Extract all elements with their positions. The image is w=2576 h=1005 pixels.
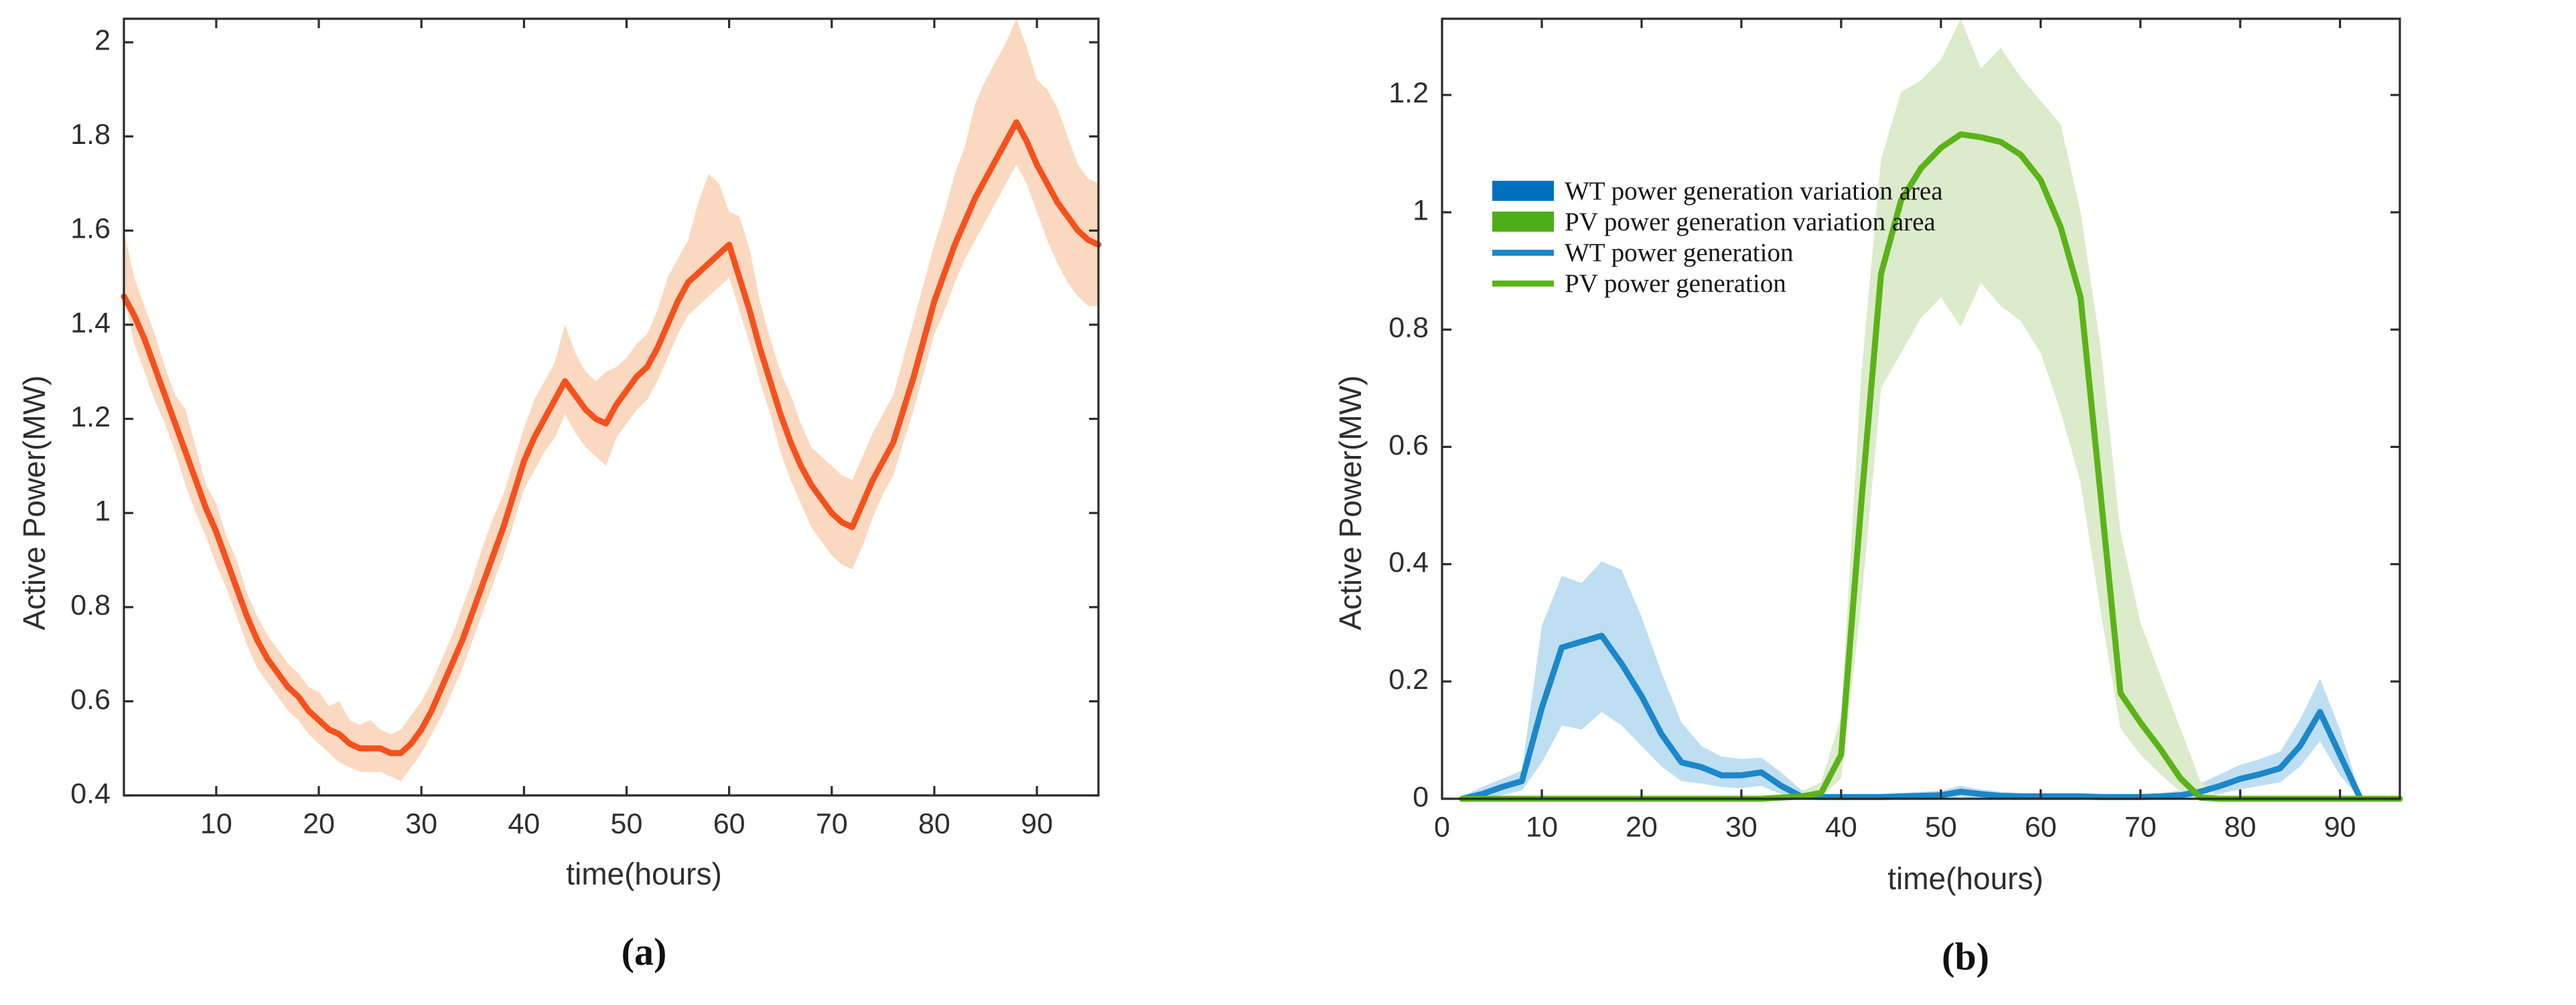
x-axis-label-a: time(hours) [0,856,1288,892]
y-tick-label: 1 [1413,194,1429,226]
y-tick-label: 0.2 [1388,664,1429,696]
x-axis-label-b: time(hours) [1321,860,2576,897]
legend-item: PV power generation [1492,268,1943,299]
legend: WT power generation variation areaPV pow… [1492,175,1943,299]
x-tick-label: 80 [918,807,950,840]
x-tick-label: 60 [713,807,745,840]
chart-b: 00.20.40.60.811.20102030405060708090 [1442,19,2400,799]
x-tick-label: 70 [816,807,848,840]
x-tick-label: 30 [1725,811,1758,843]
x-tick-label: 40 [1825,811,1857,843]
plot-area-b: 00.20.40.60.811.20102030405060708090 [1442,19,2400,799]
legend-item: WT power generation [1492,237,1943,268]
legend-patch-swatch [1492,181,1554,201]
plot-area-a: 0.40.60.811.21.41.61.8210203040506070809… [124,19,1098,795]
x-tick-label: 50 [1925,811,1957,843]
y-axis-label-a: Active Power(MW) [52,248,88,503]
x-tick-label: 20 [1626,811,1658,843]
legend-item: PV power generation variation area [1492,206,1943,237]
y-tick-label: 0.4 [70,777,111,809]
x-tick-label: 70 [2125,811,2157,843]
y-axis-label-b: Active Power(MW) [1368,248,1405,503]
x-tick-label: 40 [508,807,540,840]
legend-item-label: WT power generation [1565,240,1793,266]
y-tick-label: 1 [94,495,111,528]
y-axis-label-a-text: Active Power(MW) [16,375,52,630]
x-tick-label: 10 [200,807,232,840]
y-axis-label-b-text: Active Power(MW) [1332,375,1368,630]
legend-item-label: WT power generation variation area [1565,178,1943,204]
y-tick-label: 0.6 [70,684,111,716]
x-tick-label: 50 [611,807,643,840]
x-tick-label: 10 [1526,811,1558,843]
legend-item-label: PV power generation variation area [1565,209,1936,235]
legend-line-swatch [1492,281,1554,287]
x-tick-label: 90 [2324,811,2356,843]
x-tick-label: 90 [1021,807,1053,840]
figure-root: 0.40.60.811.21.41.61.8210203040506070809… [0,0,2576,1005]
y-tick-label: 2 [94,25,111,57]
x-tick-label: 60 [2025,811,2057,843]
legend-item-label: PV power generation [1565,270,1786,297]
legend-patch-swatch [1492,212,1554,232]
x-tick-label: 0 [1434,811,1450,843]
x-tick-label: 20 [303,807,335,840]
panel-a: 0.40.60.811.21.41.61.8210203040506070809… [0,0,1288,1005]
legend-item: WT power generation variation area [1492,175,1943,206]
panel-caption-b: (b) [1321,934,2576,979]
panel-caption-a: (a) [0,929,1288,974]
legend-line-swatch [1492,250,1554,256]
x-tick-label: 80 [2224,811,2257,843]
y-tick-label: 0.8 [70,589,111,621]
panel-b: 00.20.40.60.811.20102030405060708090 WT … [1288,0,2576,1005]
y-tick-label: 1.2 [1388,77,1429,109]
y-tick-label: 0 [1413,781,1429,813]
y-tick-label: 0.4 [1388,546,1429,578]
y-tick-label: 1.8 [70,119,111,151]
chart-a: 0.40.60.811.21.41.61.8210203040506070809… [124,19,1098,795]
y-tick-label: 1.6 [70,213,111,245]
x-tick-label: 30 [405,807,437,840]
